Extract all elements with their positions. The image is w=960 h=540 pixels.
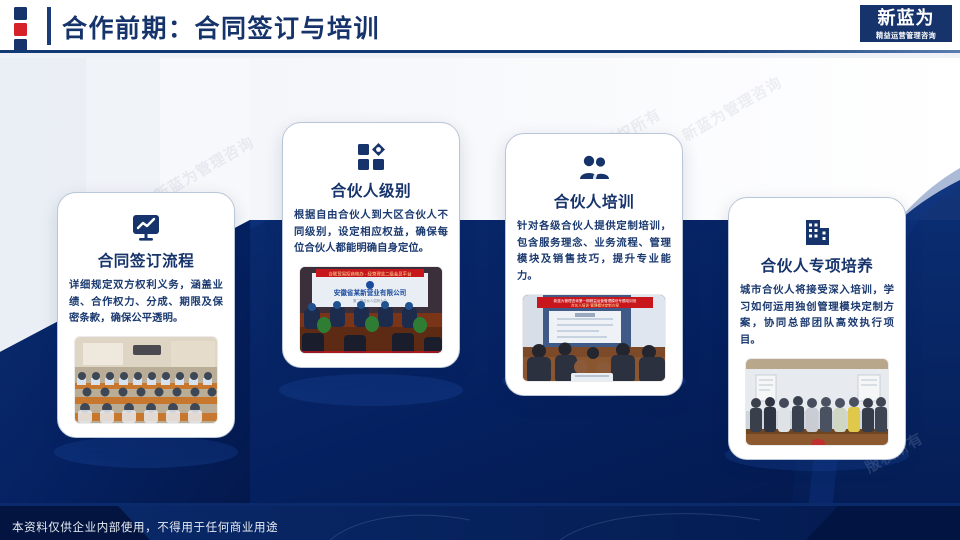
card-description: 城市合伙人将接受深入培训，学习如何运用独创管理模块定制方案，协同总部团队高效执行… — [740, 283, 894, 350]
card-partner-special-development[interactable]: 合伙人专项培养 城市合伙人将接受深入培训，学习如何运用独创管理模块定制方案，协同… — [728, 197, 906, 460]
red-square-icon — [14, 23, 27, 36]
conference-stage-banner-photo: 合联贸易招商地办 · 经营理念二级会员平台 安徽省某新营业有限公司 第二届合伙人… — [299, 266, 443, 354]
card-description: 针对各级合伙人提供定制培训，包含服务理念、业务流程、管理模块及销售技巧，提升专业… — [517, 219, 671, 286]
card-partner-training[interactable]: 合伙人培训 针对各级合伙人提供定制培训，包含服务理念、业务流程、管理模块及销售技… — [505, 133, 683, 396]
card-contract-signing-process[interactable]: 合同签订流程 详细规定双方权利义务，涵盖业绩、合作权力、分成、期限及保密条款，确… — [57, 192, 235, 438]
card-title: 合伙人专项培养 — [761, 254, 874, 276]
header-divider-shadow — [0, 53, 960, 58]
navy-square-icon — [14, 7, 27, 20]
company-logo: 新蓝为 精益运营管理咨询 — [860, 5, 952, 43]
card-title: 合同签订流程 — [98, 249, 195, 271]
svg-text:新蓝为管理咨询第一期精益运营管理模块专题培训班: 新蓝为管理咨询第一期精益运营管理模块专题培训班 — [554, 298, 637, 303]
lecture-hall-audience-photo — [74, 336, 218, 424]
slide-header: 合作前期：合同签订与培训 — [0, 0, 960, 52]
grid-diamond-icon — [355, 137, 387, 177]
group-team-portrait-photo — [745, 358, 889, 446]
card-partner-levels[interactable]: 合伙人级别 根据自由合伙人到大区合伙人不同级别，设定相应权益，确保每位合伙人都能… — [282, 122, 460, 368]
title-accent-bar — [47, 7, 51, 45]
logo-name: 新蓝为 — [860, 5, 952, 30]
card-title: 合伙人培训 — [554, 190, 635, 212]
card-title: 合伙人级别 — [331, 179, 412, 201]
svg-text:合伙人培训·管理模块定制方案: 合伙人培训·管理模块定制方案 — [571, 302, 619, 307]
svg-text:合联贸易招商地办 · 经营理念二级会员平台: 合联贸易招商地办 · 经营理念二级会员平台 — [329, 271, 413, 278]
footer-disclaimer: 本资料仅供企业内部使用，不得用于任何商业用途 — [12, 519, 278, 535]
svg-text:安徽省某新营业有限公司: 安徽省某新营业有限公司 — [334, 288, 407, 297]
page-title: 合作前期：合同签订与培训 — [62, 9, 380, 45]
office-building-icon — [801, 212, 833, 252]
people-group-icon — [578, 148, 610, 188]
card-description: 根据自由合伙人到大区合伙人不同级别，设定相应权益，确保每位合伙人都能明确自身定位… — [294, 208, 448, 258]
card-description: 详细规定双方权利义务，涵盖业绩、合作权力、分成、期限及保密条款，确保公平透明。 — [69, 278, 223, 328]
logo-tagline: 精益运营管理咨询 — [860, 30, 952, 42]
chart-monitor-icon — [130, 207, 162, 247]
classroom-projector-training-photo: 新蓝为管理咨询第一期精益运营管理模块专题培训班 合伙人培训·管理模块定制方案 — [522, 294, 666, 382]
